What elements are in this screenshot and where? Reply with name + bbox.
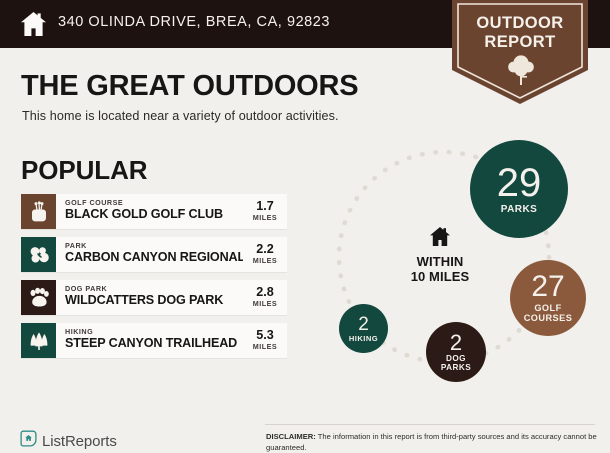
disclaimer: DISCLAIMER: The information in this repo…: [266, 432, 598, 453]
bubble-golf-label-line-2: COURSES: [524, 314, 573, 324]
list-item-category: HIKING: [65, 327, 243, 336]
tree-icon: [508, 54, 534, 86]
list-item[interactable]: HIKING STEEP CANYON TRAILHEAD 5.3 MILES: [21, 323, 287, 358]
bubble-dog-value: 2: [450, 332, 462, 354]
listreports-wordmark: ListReports: [42, 433, 117, 450]
paw-icon: [21, 280, 56, 315]
list-item[interactable]: PARK CARBON CANYON REGIONAL PARK 2.2 MIL…: [21, 237, 287, 272]
bubble-parks-label: PARKS: [501, 205, 538, 216]
bubble-dog-parks[interactable]: 2 DOG PARKS: [426, 322, 486, 382]
list-item-distance: 1.7 MILES: [243, 194, 287, 229]
list-item-name: BLACK GOLD GOLF CLUB: [65, 207, 243, 222]
list-item-category: DOG PARK: [65, 284, 243, 293]
bubble-golf-courses[interactable]: 27 GOLF COURSES: [510, 260, 586, 336]
badge-line-1: OUTDOOR: [452, 14, 588, 33]
home-icon: [429, 226, 451, 247]
disclaimer-text: The information in this report is from t…: [266, 432, 597, 452]
list-item-name: CARBON CANYON REGIONAL PARK: [65, 250, 243, 265]
badge-label: OUTDOOR REPORT: [452, 14, 588, 52]
distance-value: 2.2: [243, 242, 287, 256]
park-trees-icon: [21, 237, 56, 272]
bubble-dog-label-line-2: PARKS: [441, 364, 471, 373]
distance-value: 2.8: [243, 285, 287, 299]
list-item-category: GOLF COURSE: [65, 198, 243, 207]
bubble-hiking-label: HIKING: [349, 335, 378, 343]
distance-unit: MILES: [243, 213, 287, 222]
list-item-name: STEEP CANYON TRAILHEAD: [65, 336, 243, 351]
distance-value: 1.7: [243, 199, 287, 213]
listreports-house-icon: [20, 430, 37, 452]
distance-unit: MILES: [243, 342, 287, 351]
bubble-parks[interactable]: 29 PARKS: [470, 140, 568, 238]
distance-unit: MILES: [243, 299, 287, 308]
list-item[interactable]: DOG PARK WILDCATTERS DOG PARK 2.8 MILES: [21, 280, 287, 315]
within-10-miles-chart: WITHIN 10 MILES 29 PARKS 27 GOLF COURSES…: [318, 126, 610, 412]
badge-line-2: REPORT: [452, 33, 588, 52]
list-item-distance: 2.2 MILES: [243, 237, 287, 272]
bubble-parks-value: 29: [497, 163, 542, 203]
golf-bag-icon: [21, 194, 56, 229]
list-item-distance: 5.3 MILES: [243, 323, 287, 358]
pine-trees-icon: [21, 323, 56, 358]
bubble-hiking[interactable]: 2 HIKING: [339, 304, 388, 353]
page-subtitle: This home is located near a variety of o…: [22, 109, 339, 123]
disclaimer-label: DISCLAIMER:: [266, 432, 316, 441]
footer-divider: [265, 424, 595, 425]
outdoor-report-badge: OUTDOOR REPORT: [452, 0, 588, 104]
center-label-line-1: WITHIN: [394, 254, 486, 269]
property-address: 340 OLINDA DRIVE, BREA, CA, 92823: [58, 14, 330, 30]
popular-heading: POPULAR: [21, 155, 147, 186]
bubble-golf-value: 27: [531, 272, 564, 302]
page-title: THE GREAT OUTDOORS: [21, 70, 358, 103]
home-icon: [20, 11, 47, 37]
listreports-logo[interactable]: ListReports: [20, 430, 117, 452]
center-label-line-2: 10 MILES: [394, 269, 486, 284]
list-item-distance: 2.8 MILES: [243, 280, 287, 315]
bubble-hiking-value: 2: [358, 315, 369, 334]
list-item-name: WILDCATTERS DOG PARK: [65, 293, 243, 308]
list-item[interactable]: GOLF COURSE BLACK GOLD GOLF CLUB 1.7 MIL…: [21, 194, 287, 229]
distance-unit: MILES: [243, 256, 287, 265]
list-item-category: PARK: [65, 241, 243, 250]
popular-list: GOLF COURSE BLACK GOLD GOLF CLUB 1.7 MIL…: [21, 194, 287, 366]
distance-value: 5.3: [243, 328, 287, 342]
chart-center-label: WITHIN 10 MILES: [394, 254, 486, 284]
